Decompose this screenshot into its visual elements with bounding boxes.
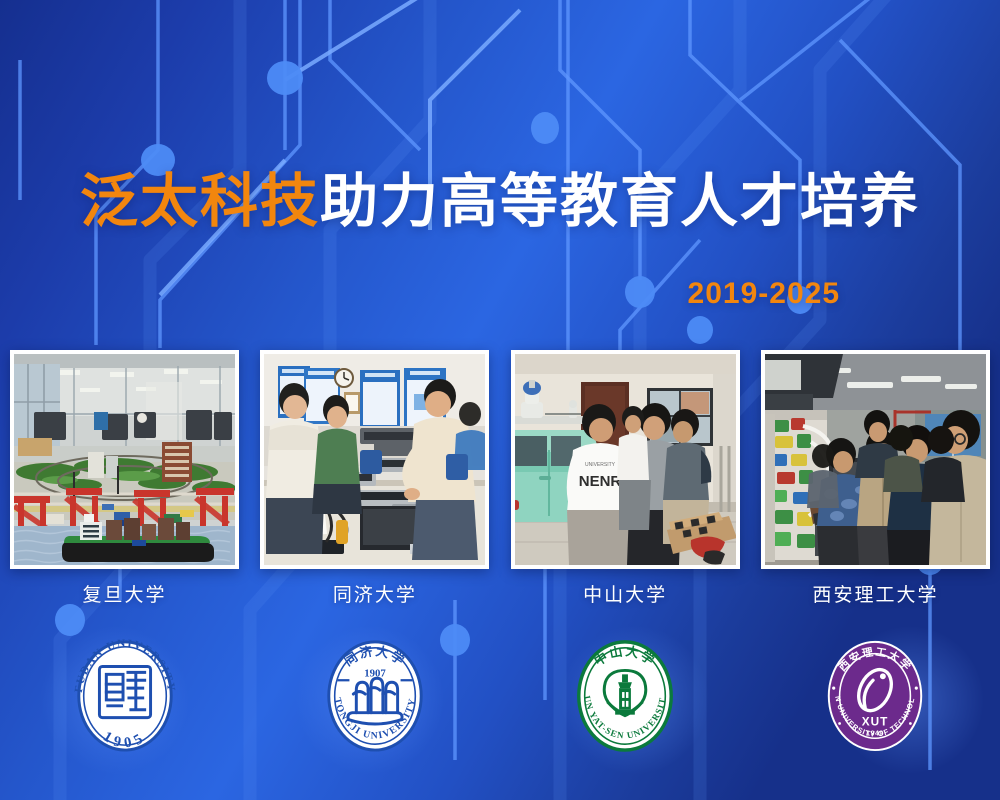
photo-gallery: NENR UNIVERSITY <box>0 350 1000 570</box>
photo-fudan <box>14 354 235 565</box>
tongji-university-logo: 同济大学 TONGJI UNIVERSITY 1907 <box>316 629 434 761</box>
caption-xut: 西安理工大学 <box>761 580 990 607</box>
title-tagline: 助力高等教育人才培养 <box>320 169 920 234</box>
brand-name: 泛太科技 <box>80 169 320 234</box>
photo-card-xut[interactable] <box>761 350 990 569</box>
sun-yat-sen-university-logo: 中山大学 SUN YAT-SEN UNIVERSITY <box>566 629 684 761</box>
photo-tongji <box>264 354 485 565</box>
photo-card-fudan[interactable] <box>10 350 239 569</box>
logo-cell-sysu[interactable]: 中山大学 SUN YAT-SEN UNIVERSITY <box>511 625 740 765</box>
photo-sysu: NENR UNIVERSITY <box>515 354 736 565</box>
photo-card-tongji[interactable] <box>260 350 489 569</box>
logo-cell-xut[interactable]: 西安理工大学 XI'AN UNIVERSITY OF TECHNOLOGY XU… <box>761 625 990 765</box>
caption-sysu: 中山大学 <box>511 580 740 607</box>
page-title: 泛太科技助力高等教育人才培养 <box>0 172 1000 233</box>
svg-text:NENR: NENR <box>578 473 621 490</box>
fudan-university-logo: FUDAN UNIVERSITY 1905 <box>66 629 184 761</box>
logo-cell-fudan[interactable]: FUDAN UNIVERSITY 1905 <box>10 625 239 765</box>
svg-text:UNIVERSITY: UNIVERSITY <box>585 462 616 468</box>
xian-university-of-technology-logo: 西安理工大学 XI'AN UNIVERSITY OF TECHNOLOGY XU… <box>816 629 934 761</box>
svg-text:1949: 1949 <box>867 730 885 737</box>
caption-tongji: 同济大学 <box>260 580 489 607</box>
logo-row: FUDAN UNIVERSITY 1905 <box>0 625 1000 765</box>
title-block: 泛太科技助力高等教育人才培养 <box>0 172 1000 233</box>
caption-row: 复旦大学 同济大学 中山大学 西安理工大学 <box>0 580 1000 607</box>
caption-fudan: 复旦大学 <box>10 580 239 607</box>
banner-stage: 泛太科技助力高等教育人才培养 2019-2025 <box>0 0 1000 800</box>
year-range-subtitle: 2019-2025 <box>688 277 840 311</box>
photo-xut <box>765 354 986 565</box>
photo-card-sysu[interactable]: NENR UNIVERSITY <box>511 350 740 569</box>
svg-text:XUT: XUT <box>862 714 889 728</box>
logo-cell-tongji[interactable]: 同济大学 TONGJI UNIVERSITY 1907 <box>260 625 489 765</box>
